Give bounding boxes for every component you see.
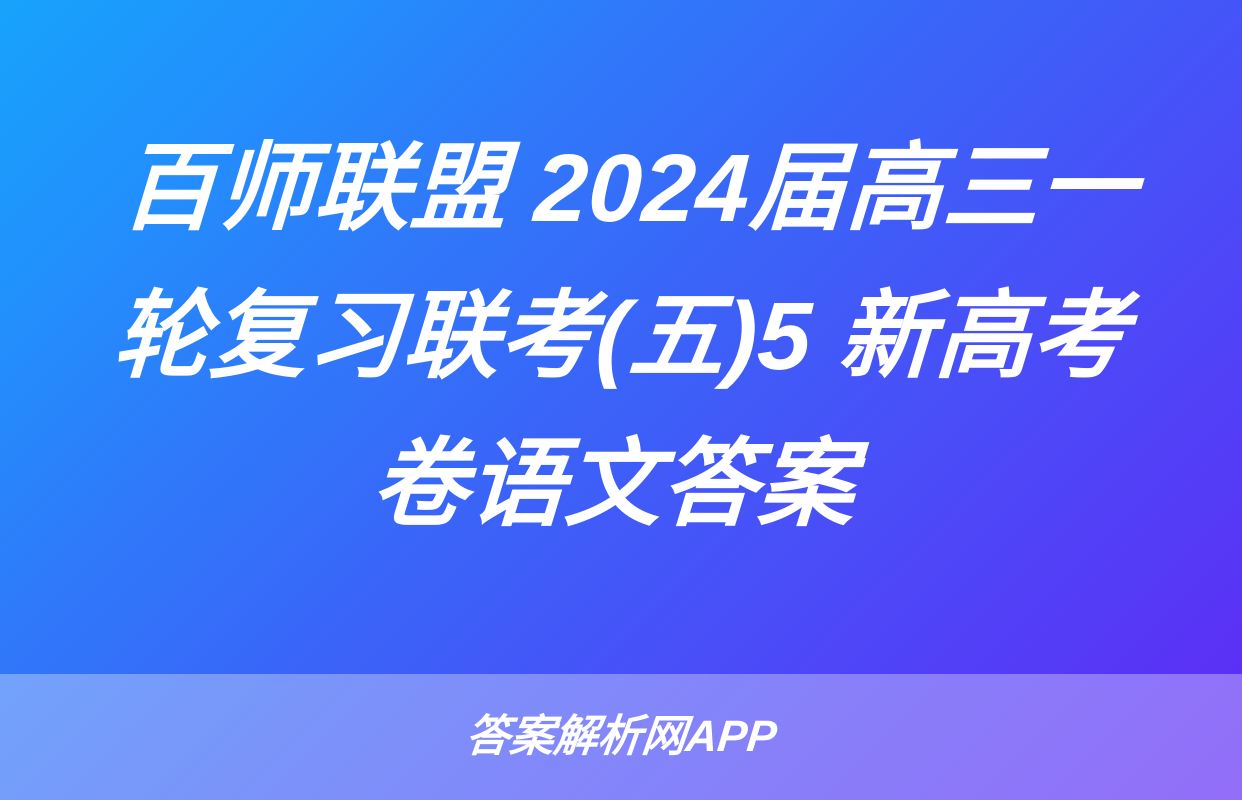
title-block: 百师联盟 2024届高三一轮复习联考(五)5 新高考卷语文答案: [0, 0, 1242, 674]
watermark-label: 答案解析网APP: [463, 711, 779, 763]
watermark-row: 答案解析网APP: [0, 674, 1242, 800]
poster-canvas: 百师联盟 2024届高三一轮复习联考(五)5 新高考卷语文答案 答案解析网APP: [0, 0, 1242, 800]
poster-title: 百师联盟 2024届高三一轮复习联考(五)5 新高考卷语文答案: [63, 115, 1178, 559]
